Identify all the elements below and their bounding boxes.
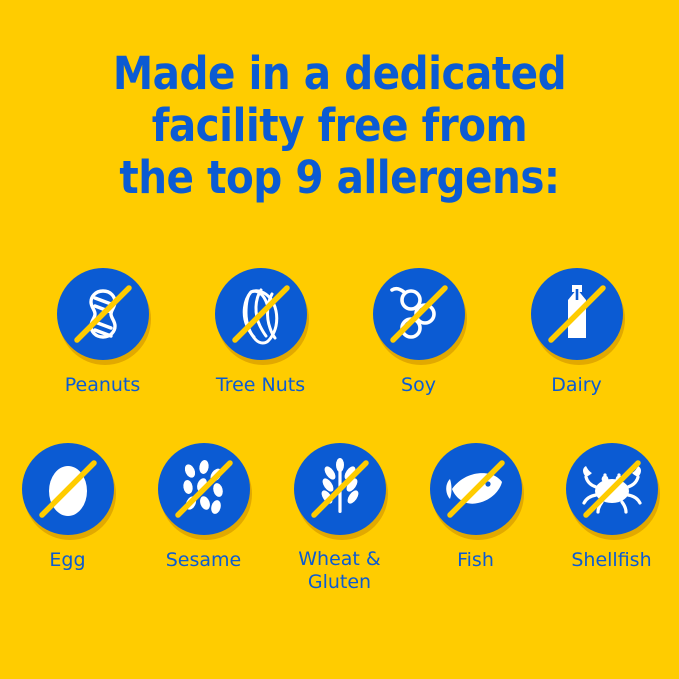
badge-disc [57, 268, 149, 360]
headline-line-2: facility free from [0, 100, 679, 152]
allergen-item-egg: Egg [16, 443, 120, 572]
wheat-badge [294, 443, 386, 535]
headline-line-1: Made in a dedicated [0, 48, 679, 100]
soy-badge [373, 268, 465, 360]
badge-disc [22, 443, 114, 535]
peanut-icon [57, 268, 149, 360]
allergen-item-soy: Soy [367, 268, 471, 397]
headline-line-3: the top 9 allergens: [0, 152, 679, 204]
peanuts-badge [57, 268, 149, 360]
allergen-label: Shellfish [571, 548, 651, 572]
badge-disc [430, 443, 522, 535]
egg-icon [22, 443, 114, 535]
allergen-label: Dairy [551, 373, 602, 397]
allergen-label: Sesame [166, 548, 242, 572]
badge-disc [215, 268, 307, 360]
fish-badge [430, 443, 522, 535]
slash-line [586, 463, 638, 515]
wheat-icon [294, 443, 386, 535]
allergen-free-infographic: Made in a dedicated facility free from t… [0, 0, 679, 679]
allergen-label-line-2: Gluten [308, 571, 371, 593]
badge-disc [158, 443, 250, 535]
page-title: Made in a dedicated facility free from t… [0, 48, 679, 204]
allergen-item-dairy: Dairy [525, 268, 629, 397]
allergen-label: Peanuts [65, 373, 141, 397]
almond-icon [215, 268, 307, 360]
allergen-label: Egg [49, 548, 85, 572]
allergen-row-2: Egg [0, 443, 679, 594]
allergen-item-wheat-gluten: Wheat & Gluten [288, 443, 392, 594]
allergen-item-fish: Fish [424, 443, 528, 572]
crab-icon [566, 443, 658, 535]
soybean-icon [373, 268, 465, 360]
allergen-label: Wheat & Gluten [298, 548, 380, 594]
sesame-badge [158, 443, 250, 535]
allergen-row-1: Peanuts Tree Nuts [0, 268, 679, 397]
egg-badge [22, 443, 114, 535]
allergen-item-tree-nuts: Tree Nuts [209, 268, 313, 397]
allergen-label: Fish [457, 548, 494, 572]
shellfish-badge [566, 443, 658, 535]
fish-icon [430, 443, 522, 535]
allergen-label: Tree Nuts [216, 373, 305, 397]
badge-disc [294, 443, 386, 535]
allergen-item-peanuts: Peanuts [51, 268, 155, 397]
allergen-item-shellfish: Shellfish [560, 443, 664, 572]
allergen-item-sesame: Sesame [152, 443, 256, 572]
sesame-seeds-icon [158, 443, 250, 535]
tree-nuts-badge [215, 268, 307, 360]
badge-disc [566, 443, 658, 535]
badge-disc [531, 268, 623, 360]
allergen-label: Soy [401, 373, 436, 397]
milk-carton-icon [531, 268, 623, 360]
allergen-label-line-1: Wheat & [298, 548, 380, 570]
dairy-badge [531, 268, 623, 360]
badge-disc [373, 268, 465, 360]
